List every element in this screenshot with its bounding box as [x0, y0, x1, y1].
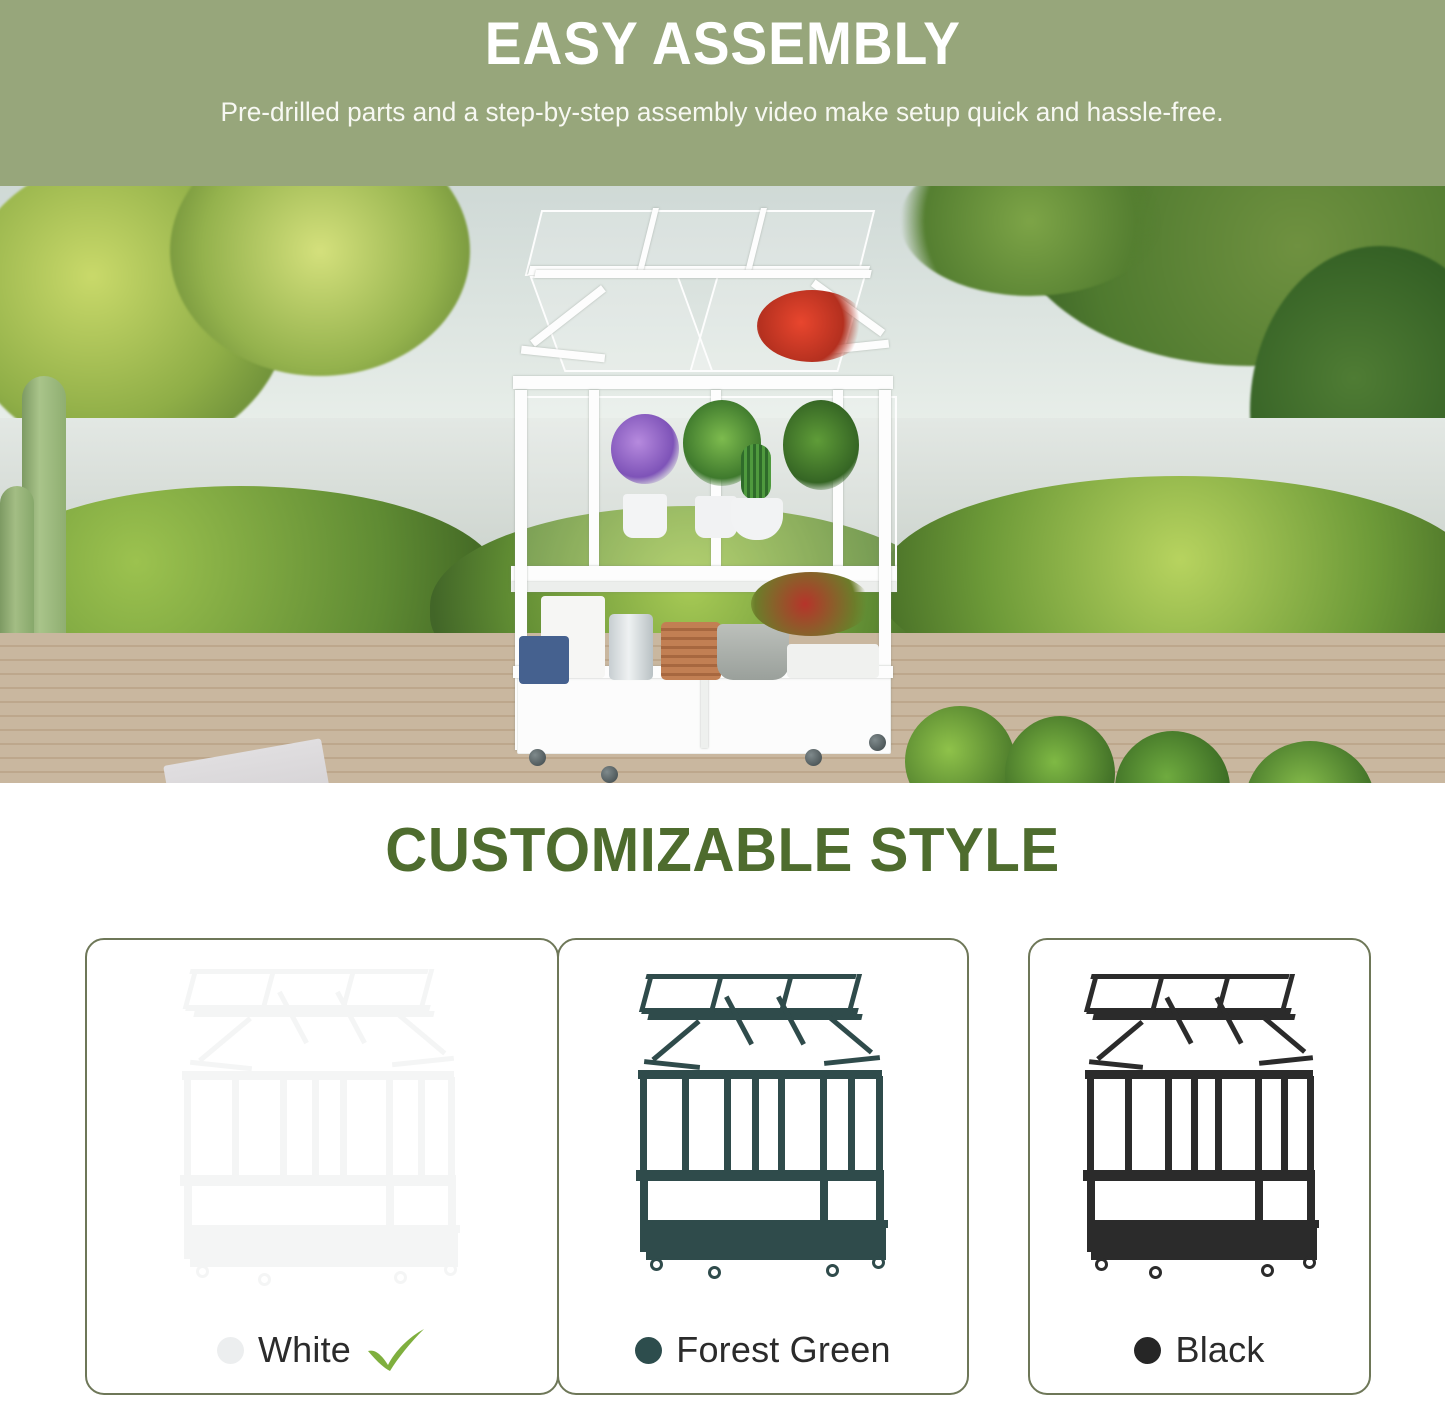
roof-lid-end-left: [183, 969, 199, 1009]
caster-wheel: [444, 1263, 457, 1276]
greenhouse-plant-stand-white: [505, 204, 905, 764]
planter-box-front: [646, 1228, 886, 1260]
galvanized-tub: [717, 624, 789, 680]
gable-rafter-right: [396, 1011, 447, 1055]
roof-lid-end-right: [847, 974, 862, 1012]
roof-lid-bar: [645, 974, 856, 979]
rafter-mid-2: [1214, 996, 1243, 1044]
middle-shelf: [636, 1170, 884, 1181]
caster-wheel: [1149, 1266, 1162, 1279]
color-name-forest-green: Forest Green: [676, 1329, 890, 1371]
upper-post: [418, 1077, 425, 1177]
gable-rafter-left-lower: [190, 1059, 252, 1070]
upper-post: [1307, 1076, 1314, 1172]
upper-post: [876, 1076, 883, 1172]
planter-box-front: [190, 1233, 458, 1267]
upper-cabinet-glass-left-side: [517, 396, 593, 570]
rafter-mid-2: [335, 990, 367, 1044]
caster-wheel: [529, 749, 546, 766]
caster-wheel: [650, 1258, 663, 1271]
banner-subtitle: Pre-drilled parts and a step-by-step ass…: [221, 96, 1224, 128]
color-label-white: White: [87, 1317, 557, 1383]
upper-post: [232, 1077, 239, 1177]
roof-lid-end-right: [1279, 974, 1294, 1012]
color-name-white: White: [258, 1329, 351, 1371]
color-options-row: White: [0, 938, 1445, 1396]
citrus-tree: [783, 400, 859, 490]
caster-wheel: [196, 1265, 209, 1278]
roof-lid-end-right: [419, 969, 435, 1009]
hero-lifestyle-photo: [0, 186, 1445, 783]
gable-rafter-right-lower: [824, 1055, 880, 1066]
roof-lid-bar-lower: [641, 1008, 859, 1014]
roof-lid-bar: [1090, 974, 1289, 979]
watering-can: [609, 614, 653, 680]
red-foliage-plant: [751, 572, 871, 636]
caster-wheel: [805, 749, 822, 766]
upper-post: [448, 1077, 455, 1177]
caster-wheel: [601, 766, 618, 783]
caster-wheel: [872, 1256, 885, 1269]
roof-lid-mullion: [261, 969, 277, 1009]
upper-post: [280, 1077, 287, 1177]
upper-door-post: [340, 1077, 347, 1177]
gable-rafter-right-lower: [1258, 1055, 1312, 1066]
blue-cooler: [519, 636, 569, 684]
planter-box-front: [1091, 1228, 1317, 1260]
gable-rafter-right-lower: [392, 1055, 454, 1066]
color-option-card-white[interactable]: White: [85, 938, 559, 1395]
gable-rafter-left: [1096, 1019, 1144, 1060]
caster-wheel: [1095, 1258, 1108, 1271]
roof-ridge-beam: [534, 270, 872, 278]
terracotta-pot: [795, 490, 853, 540]
upper-door-post: [778, 1076, 785, 1172]
gable-rafter-left-lower: [644, 1059, 700, 1070]
potted-orchid: [611, 414, 679, 484]
easy-assembly-banner: EASY ASSEMBLY Pre-drilled parts and a st…: [0, 0, 1445, 186]
roof-lid-bar: [189, 969, 428, 974]
color-option-card-black[interactable]: Black: [1028, 938, 1371, 1395]
color-option-card-forest-green[interactable]: Forest Green: [557, 938, 969, 1395]
rafter-mid: [1164, 996, 1193, 1044]
upper-post: [1125, 1076, 1132, 1172]
upper-top-rail: [1085, 1070, 1313, 1079]
roof-lid-bar-lower: [185, 1005, 431, 1011]
planter-panel-divider: [701, 678, 708, 748]
product-image-black: [1030, 940, 1369, 1295]
white-pot: [623, 494, 667, 538]
caster-wheel: [394, 1271, 407, 1284]
product-image-forest-green: [559, 940, 967, 1295]
rafter-mid: [724, 995, 754, 1045]
swatch-black-icon: [1134, 1337, 1161, 1364]
roof-lid-bar-lower: [1086, 1008, 1292, 1014]
upper-door-post: [1215, 1076, 1222, 1172]
upper-post: [184, 1077, 191, 1177]
upper-top-rail: [638, 1070, 882, 1079]
caster-wheel: [258, 1273, 271, 1286]
customizable-style-title: CUSTOMIZABLE STYLE: [43, 815, 1401, 886]
rafter-mid-2: [776, 995, 806, 1045]
color-label-forest-green: Forest Green: [559, 1317, 967, 1383]
caster-wheel: [1303, 1256, 1316, 1269]
gable-rafter-left: [651, 1019, 700, 1061]
upper-door-post: [752, 1076, 759, 1172]
gable-rafter-left: [198, 1016, 252, 1062]
upper-post: [820, 1076, 827, 1172]
upper-post: [1165, 1076, 1172, 1172]
white-bowl-pot: [731, 498, 783, 540]
upper-post: [1087, 1076, 1094, 1172]
caster-wheel: [826, 1264, 839, 1277]
caster-wheel: [1261, 1264, 1274, 1277]
roof-lid-end-left: [639, 974, 654, 1012]
upper-post: [724, 1076, 731, 1172]
red-flowers: [757, 290, 867, 362]
white-tray: [787, 644, 879, 678]
swatch-forest-green-icon: [635, 1337, 662, 1364]
upper-post: [640, 1076, 647, 1172]
gable-rafter-left-lower: [1088, 1059, 1142, 1070]
upper-door-post: [312, 1077, 319, 1177]
upper-top-rail: [513, 376, 893, 389]
roof-lid-mullion: [709, 974, 724, 1012]
banner-title: EASY ASSEMBLY: [484, 14, 960, 74]
rafter-mid: [277, 990, 309, 1044]
roof-lid-end-left: [1083, 974, 1098, 1012]
planter-box-rim: [1089, 1220, 1319, 1228]
upper-post: [386, 1077, 393, 1177]
product-marketing-page: EASY ASSEMBLY Pre-drilled parts and a st…: [0, 0, 1445, 1401]
middle-shelf: [180, 1175, 456, 1186]
swatch-white-icon: [217, 1337, 244, 1364]
upper-post: [1255, 1076, 1262, 1172]
planter-box-rim: [644, 1220, 888, 1228]
gable-rafter-right: [1261, 1015, 1306, 1054]
gable-rafter-right: [827, 1014, 873, 1054]
caster-wheel: [708, 1266, 721, 1279]
upper-post: [682, 1076, 689, 1172]
cactus-plant: [741, 444, 771, 500]
upper-post: [1281, 1076, 1288, 1172]
upper-cabinet-post: [589, 390, 599, 572]
check-icon: [365, 1327, 427, 1373]
planter-box-rim: [188, 1225, 460, 1233]
caster-wheel: [869, 734, 886, 751]
upper-post: [848, 1076, 855, 1172]
roof-lid-mullion: [1149, 974, 1164, 1012]
upper-door-post: [1191, 1076, 1198, 1172]
color-label-black: Black: [1030, 1317, 1369, 1383]
product-image-white: [87, 940, 557, 1295]
color-name-black: Black: [1175, 1329, 1264, 1371]
stacked-terracotta-saucers: [661, 622, 721, 680]
middle-shelf: [1083, 1170, 1315, 1181]
